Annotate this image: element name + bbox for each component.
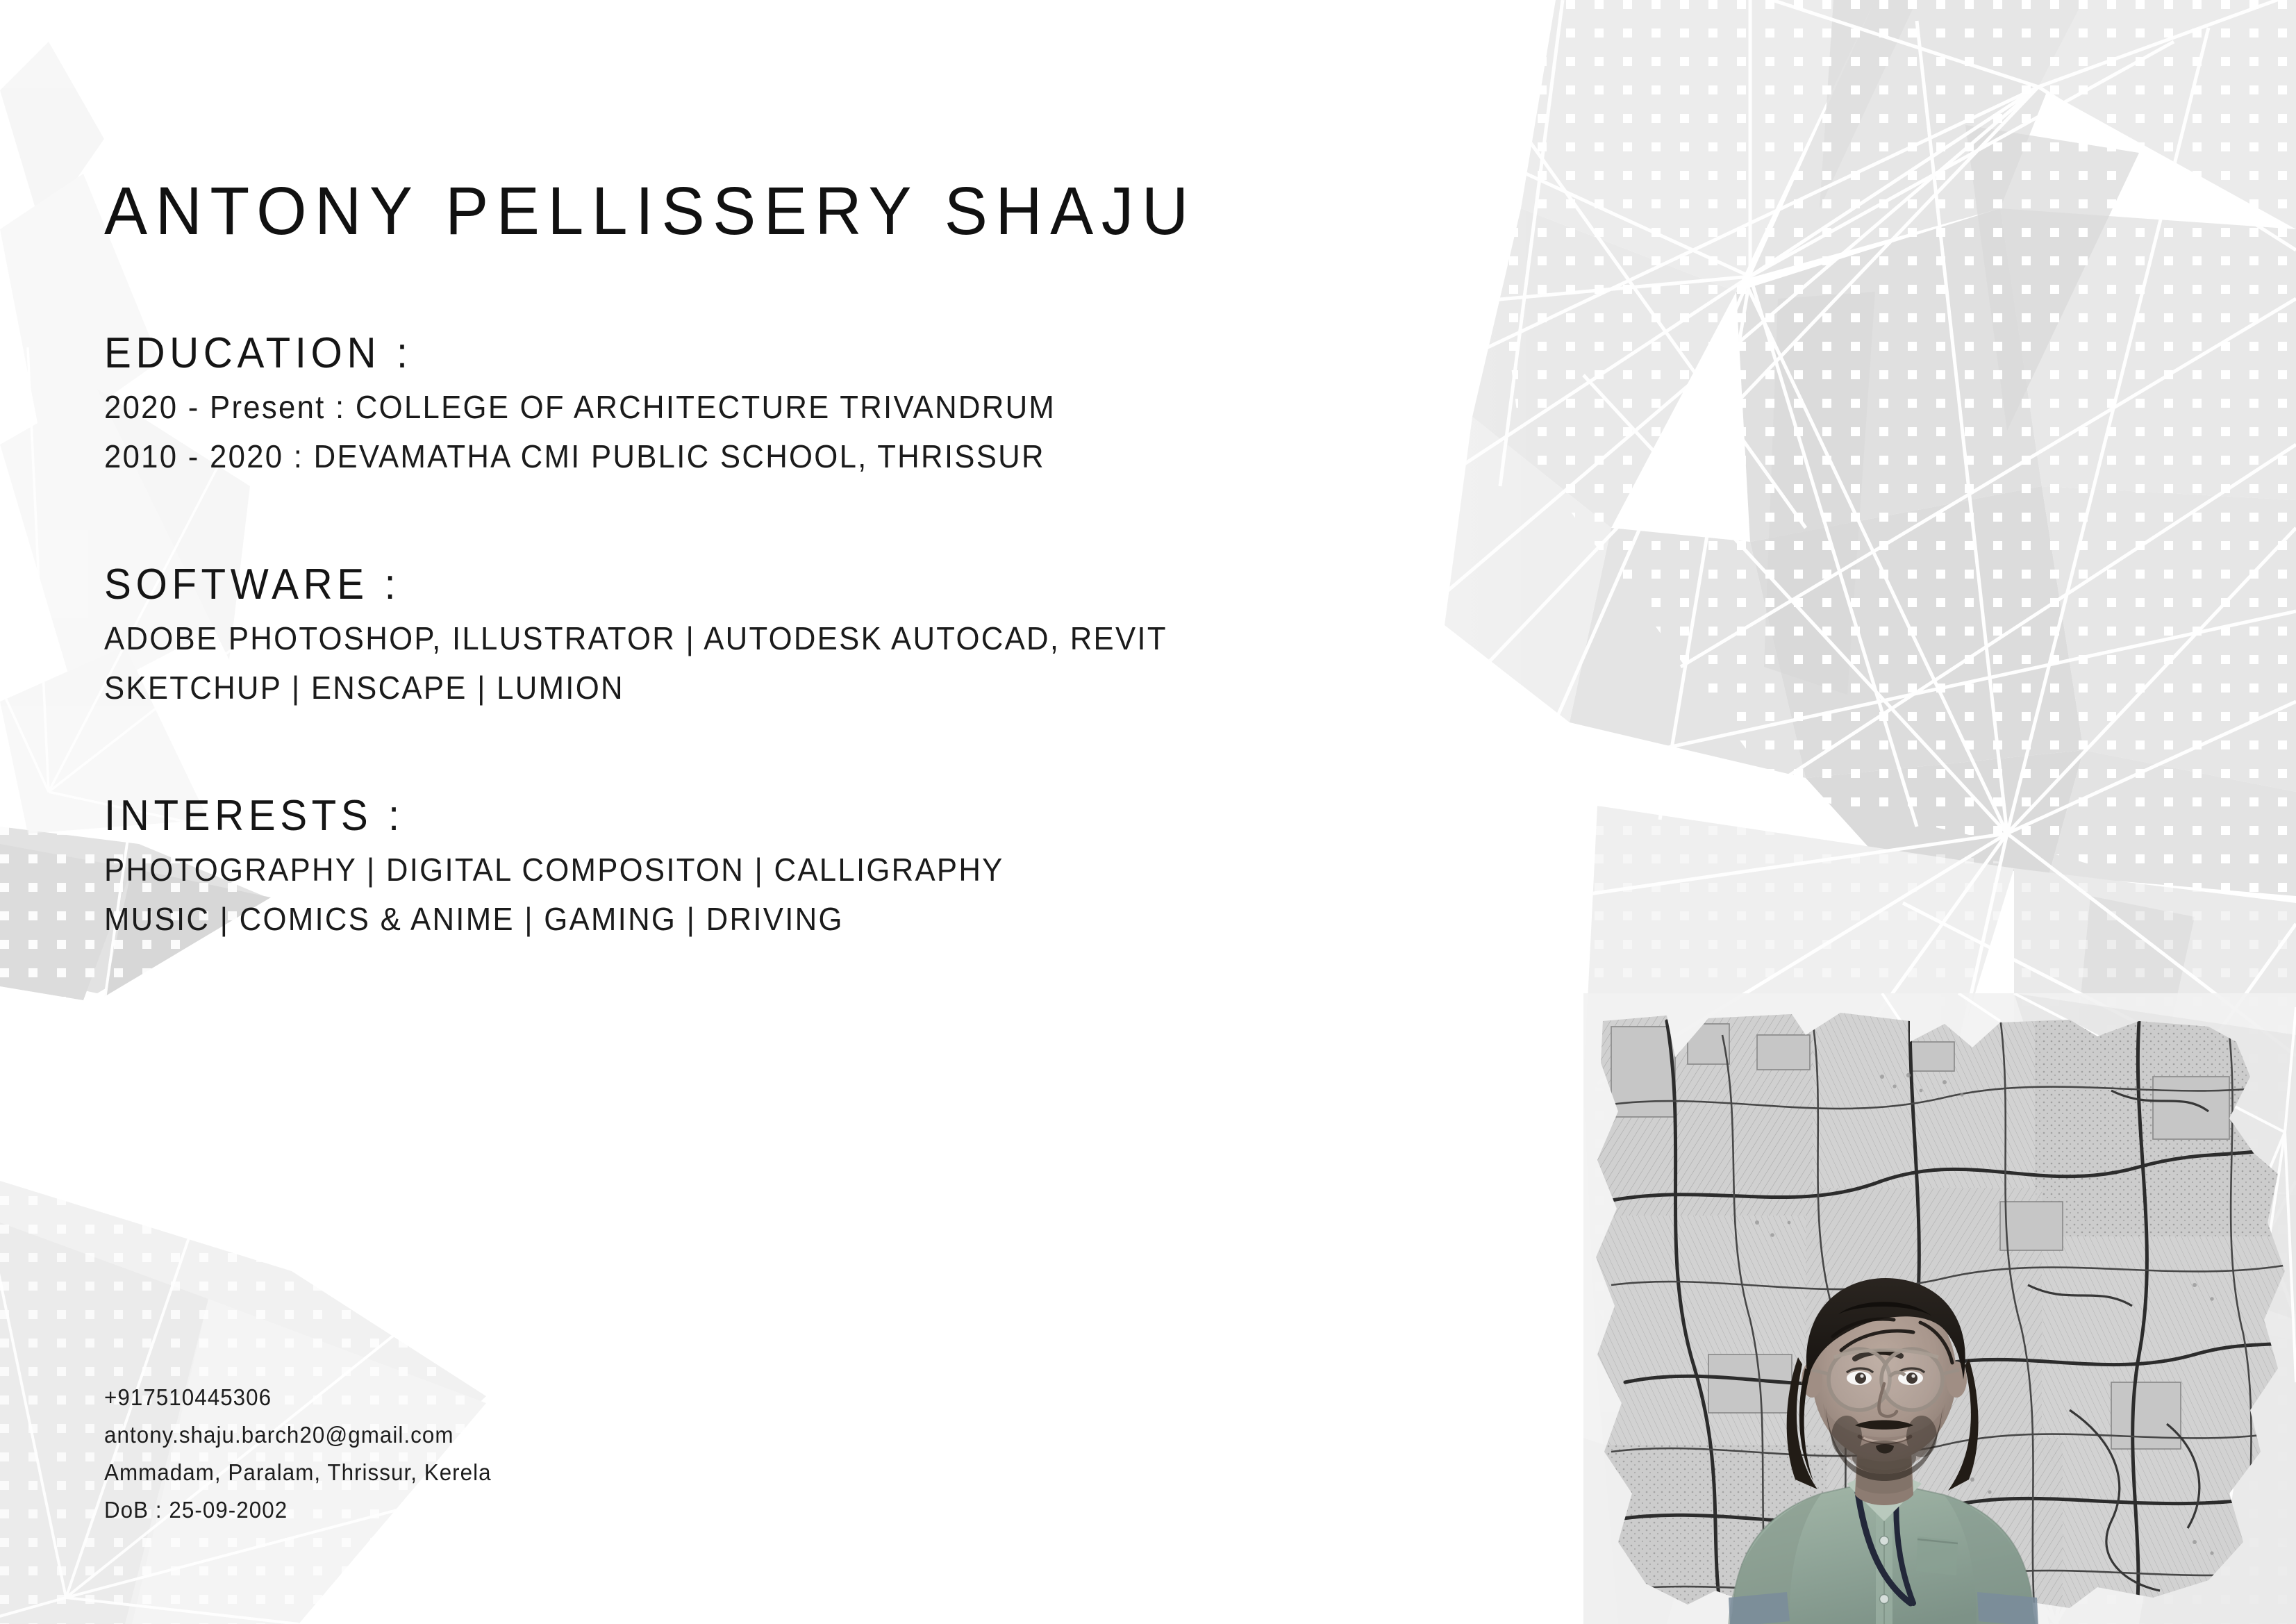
section-software: SOFTWARE : ADOBE PHOTOSHOP, ILLUSTRATOR … — [104, 481, 1493, 713]
section-education: EDUCATION : 2020 - Present : COLLEGE OF … — [104, 245, 1493, 481]
software-entry: SKETCHUP | ENSCAPE | LUMION — [104, 663, 1424, 713]
section-heading-interests: INTERESTS : — [104, 790, 1410, 841]
education-entry: 2010 - 2020 : DEVAMATHA CMI PUBLIC SCHOO… — [104, 432, 1424, 481]
contact-dob: DoB : 25-09-2002 — [104, 1491, 492, 1529]
section-heading-education: EDUCATION : — [104, 328, 1410, 379]
contact-phone[interactable]: +917510445306 — [104, 1379, 492, 1416]
resume-text-column: ANTONY PELLISSERY SHAJU EDUCATION : 2020… — [104, 0, 1493, 943]
contact-block: +917510445306 antony.shaju.barch20@gmail… — [104, 1379, 512, 1529]
software-entry: ADOBE PHOTOSHOP, ILLUSTRATOR | AUTODESK … — [104, 614, 1424, 663]
interests-entry: MUSIC | COMICS & ANIME | GAMING | DRIVIN… — [104, 895, 1424, 944]
contact-email[interactable]: antony.shaju.barch20@gmail.com — [104, 1416, 492, 1454]
contact-address: Ammadam, Paralam, Thrissur, Kerela — [104, 1454, 492, 1491]
interests-entry: PHOTOGRAPHY | DIGITAL COMPOSITON | CALLI… — [104, 845, 1424, 895]
portrait-map-composite — [1583, 993, 2296, 1624]
education-entry: 2020 - Present : COLLEGE OF ARCHITECTURE… — [104, 383, 1424, 432]
section-interests: INTERESTS : PHOTOGRAPHY | DIGITAL COMPOS… — [104, 713, 1493, 944]
page-title: ANTONY PELLISSERY SHAJU — [104, 0, 1438, 245]
section-heading-software: SOFTWARE : — [104, 559, 1410, 610]
resume-cover-page: ANTONY PELLISSERY SHAJU EDUCATION : 2020… — [0, 0, 2296, 1624]
